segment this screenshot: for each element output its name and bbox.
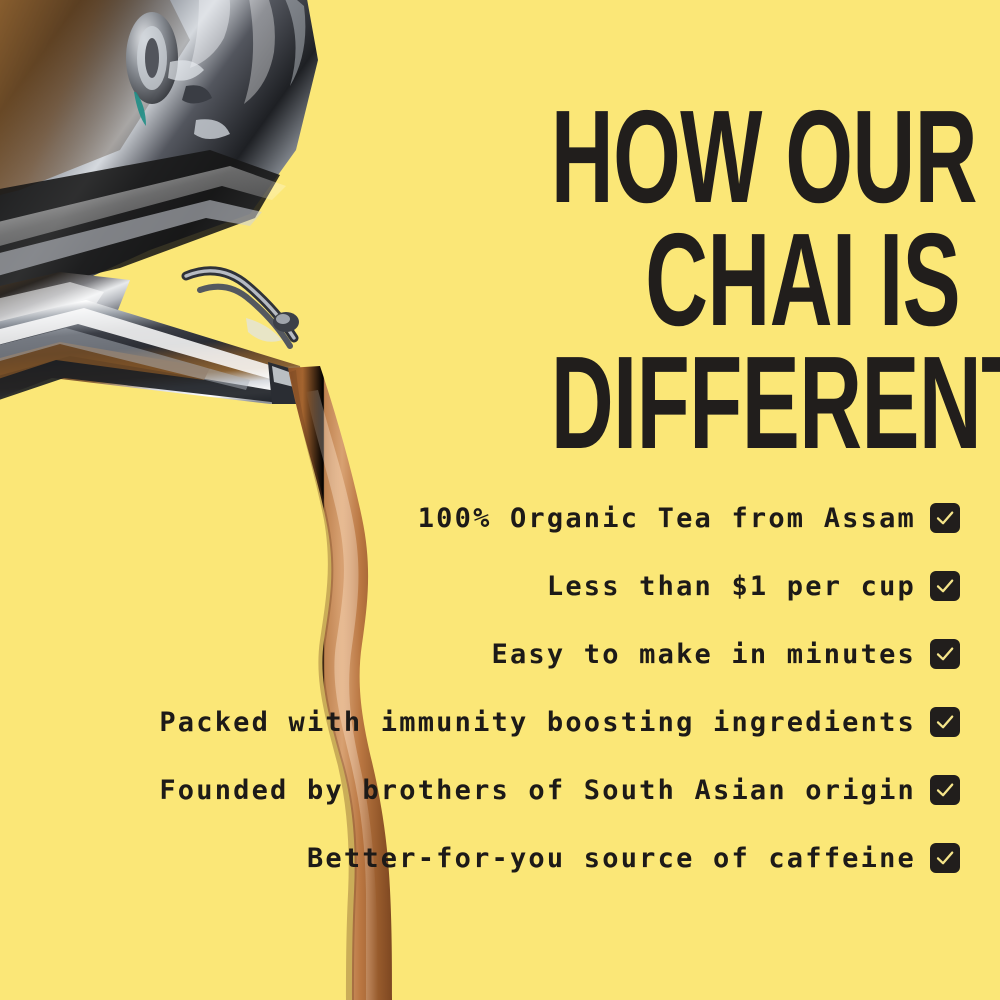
checkmark-icon: [934, 847, 956, 869]
checklist-item-label: 100% Organic Tea from Assam: [418, 505, 916, 532]
headline-line-3: DIFFERENT: [551, 342, 960, 465]
checkbox-checked[interactable]: [930, 843, 960, 873]
list-item: Packed with immunity boosting ingredient…: [80, 707, 960, 737]
checklist-item-label: Less than $1 per cup: [547, 573, 916, 600]
headline-line-1: HOW OUR: [551, 96, 960, 219]
kettle-lid-clip: [186, 271, 299, 346]
checkmark-icon: [934, 779, 956, 801]
list-item: Easy to make in minutes: [80, 639, 960, 669]
stainless-steel-kettle: [0, 0, 318, 420]
list-item: 100% Organic Tea from Assam: [80, 503, 960, 533]
checkmark-icon: [934, 643, 956, 665]
checklist-item-label: Better-for-you source of caffeine: [307, 845, 916, 872]
checklist-item-label: Packed with immunity boosting ingredient…: [159, 709, 916, 736]
checklist-item-label: Easy to make in minutes: [492, 641, 916, 668]
poster-canvas: HOW OUR CHAI IS DIFFERENT 100% Organic T…: [0, 0, 1000, 1000]
headline-line-2: CHAI IS: [551, 219, 960, 342]
list-item: Less than $1 per cup: [80, 571, 960, 601]
checkmark-icon: [934, 575, 956, 597]
checklist-item-label: Founded by brothers of South Asian origi…: [159, 777, 916, 804]
list-item: Better-for-you source of caffeine: [80, 843, 960, 873]
checkmark-icon: [934, 507, 956, 529]
benefits-checklist: 100% Organic Tea from Assam Less than $1…: [80, 503, 960, 873]
checkbox-checked[interactable]: [930, 775, 960, 805]
checkbox-checked[interactable]: [930, 707, 960, 737]
checkbox-checked[interactable]: [930, 571, 960, 601]
page-title: HOW OUR CHAI IS DIFFERENT: [340, 96, 960, 464]
checkmark-icon: [934, 711, 956, 733]
list-item: Founded by brothers of South Asian origi…: [80, 775, 960, 805]
checkbox-checked[interactable]: [930, 639, 960, 669]
checkbox-checked[interactable]: [930, 503, 960, 533]
